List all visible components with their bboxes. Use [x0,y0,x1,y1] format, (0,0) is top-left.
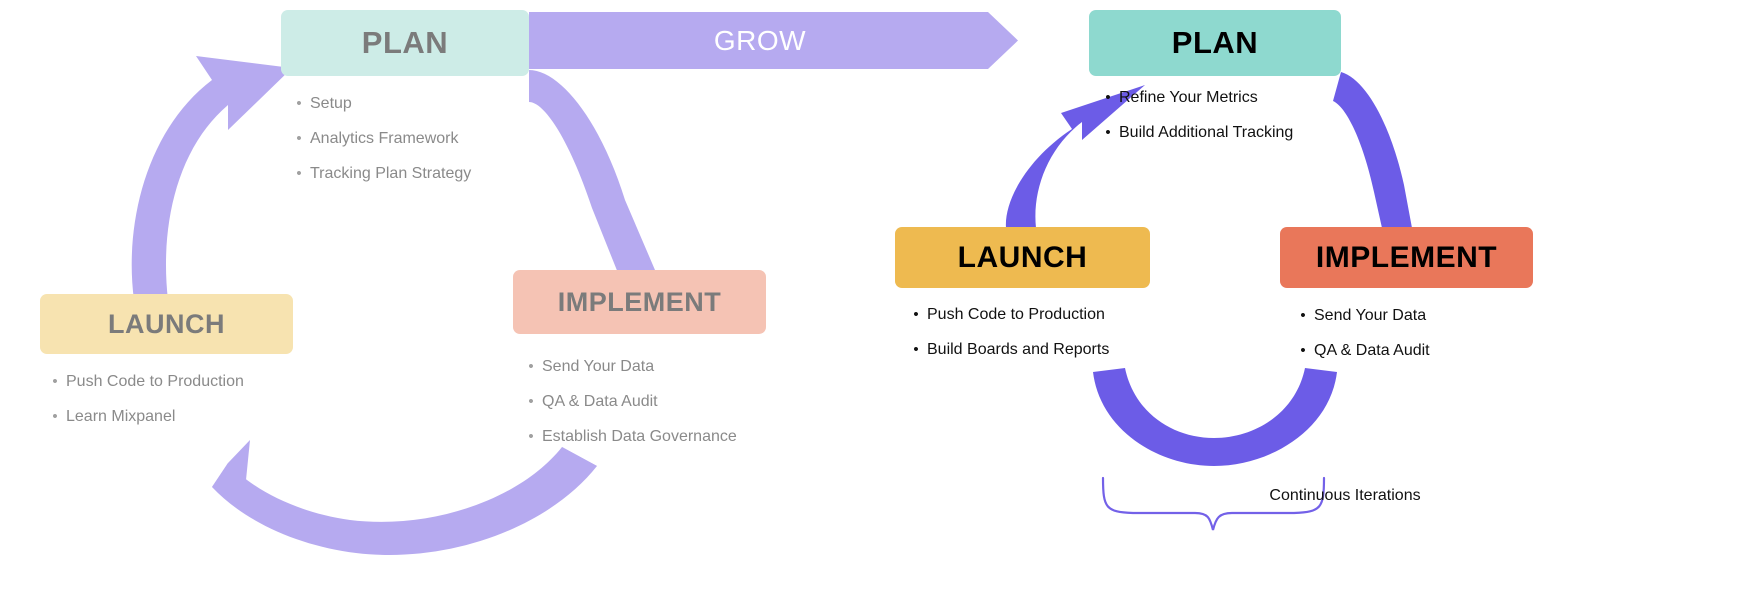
phase-box-launch-left[interactable]: LAUNCH [40,294,293,354]
list-item-label: QA & Data Audit [1314,342,1430,360]
list-item: • Send Your Data [1292,307,1430,325]
bullet-icon: • [44,373,66,390]
list-item: • Build Additional Tracking [1097,124,1293,142]
bullet-list-launch-left: • Push Code to Production • Learn Mixpan… [44,373,244,443]
list-item: • Setup [288,95,471,113]
bullet-icon: • [520,393,542,410]
list-item: • Send Your Data [520,358,737,376]
list-item-label: Build Additional Tracking [1119,124,1293,142]
bullet-icon: • [905,341,927,358]
list-item-label: Send Your Data [1314,307,1426,325]
phase-box-implement-left[interactable]: IMPLEMENT [513,270,766,334]
phase-box-implement-right[interactable]: IMPLEMENT [1280,227,1533,288]
phase-box-plan-left[interactable]: PLAN [281,10,529,76]
list-item-label: Push Code to Production [927,306,1105,324]
bullet-list-launch-right: • Push Code to Production • Build Boards… [905,306,1109,376]
phase-title-launch-left: LAUNCH [108,309,225,340]
bullet-icon: • [1097,89,1119,106]
phase-title-plan-left: PLAN [362,25,448,61]
list-item: • Analytics Framework [288,130,471,148]
bullet-icon: • [288,95,310,112]
bullet-icon: • [520,358,542,375]
phase-box-launch-right[interactable]: LAUNCH [895,227,1150,288]
phase-title-plan-right: PLAN [1172,25,1258,61]
diagram-canvas: GROW PLAN • Setup • Analytics Framework … [0,0,1740,589]
list-item-label: Analytics Framework [310,130,458,148]
list-item-label: Setup [310,95,352,113]
arrow-implement-to-launch-left [212,447,597,555]
continuous-iterations-label: Continuous Iterations [1130,487,1560,505]
phase-title-implement-left: IMPLEMENT [558,287,722,318]
connector-plan-to-implement-left [529,70,655,278]
arrow-launch-to-plan-left [132,56,292,300]
arrow-implement-to-launch-right [1093,368,1337,466]
list-item-label: Establish Data Governance [542,428,737,446]
list-item-label: Build Boards and Reports [927,341,1109,359]
list-item: • Establish Data Governance [520,428,737,446]
list-item: • Tracking Plan Strategy [288,165,471,183]
bullet-list-plan-left: • Setup • Analytics Framework • Tracking… [288,95,471,200]
list-item: • Push Code to Production [905,306,1109,324]
bullet-icon: • [44,408,66,425]
list-item-label: Send Your Data [542,358,654,376]
phase-title-implement-right: IMPLEMENT [1316,241,1497,275]
bullet-icon: • [905,306,927,323]
bullet-icon: • [288,165,310,182]
grow-banner-label: GROW [529,12,991,69]
connector-plan-to-implement-right [1333,72,1412,228]
list-item-label: Push Code to Production [66,373,244,391]
arrow-head-implement-to-launch-left [212,440,250,500]
bullet-icon: • [1097,124,1119,141]
list-item: • Learn Mixpanel [44,408,244,426]
phase-box-plan-right[interactable]: PLAN [1089,10,1341,76]
list-item-label: Learn Mixpanel [66,408,175,426]
bullet-icon: • [520,428,542,445]
bullet-icon: • [288,130,310,147]
bullet-list-implement-left: • Send Your Data • QA & Data Audit • Est… [520,358,737,463]
list-item-label: Tracking Plan Strategy [310,165,471,183]
phase-title-launch-right: LAUNCH [958,241,1088,275]
bullet-icon: • [1292,342,1314,359]
list-item-label: Refine Your Metrics [1119,89,1258,107]
list-item: • Build Boards and Reports [905,341,1109,359]
list-item-label: QA & Data Audit [542,393,658,411]
bullet-icon: • [1292,307,1314,324]
list-item: • Push Code to Production [44,373,244,391]
list-item: • Refine Your Metrics [1097,89,1293,107]
bullet-list-plan-right: • Refine Your Metrics • Build Additional… [1097,89,1293,159]
bullet-list-implement-right: • Send Your Data • QA & Data Audit [1292,307,1430,377]
list-item: • QA & Data Audit [1292,342,1430,360]
list-item: • QA & Data Audit [520,393,737,411]
